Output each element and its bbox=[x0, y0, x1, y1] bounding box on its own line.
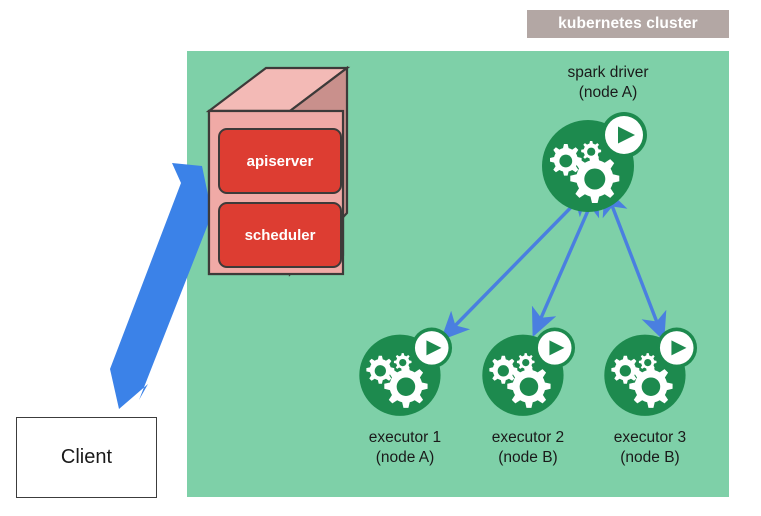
spark-driver-label: spark driver (node A) bbox=[508, 63, 708, 103]
apiserver-label: apiserver bbox=[247, 153, 314, 170]
client-box[interactable]: Client bbox=[16, 417, 157, 498]
executor-2-icon[interactable] bbox=[477, 324, 583, 430]
scheduler-box[interactable]: scheduler bbox=[218, 202, 342, 268]
control-plane-cube[interactable]: apiserver scheduler bbox=[200, 63, 380, 283]
scheduler-label: scheduler bbox=[245, 227, 316, 244]
diagram-canvas: kubernetes cluster Client spark-submit a… bbox=[0, 0, 761, 516]
spark-submit-label: spark-submit bbox=[114, 196, 177, 312]
executor-3-label-line1: executor 3 bbox=[575, 428, 725, 448]
spark-driver-label-line2: (node A) bbox=[508, 83, 708, 103]
gears-play-icon bbox=[542, 112, 647, 212]
client-label: Client bbox=[61, 446, 112, 469]
executor-3-icon[interactable] bbox=[599, 324, 705, 430]
executor-3-label: executor 3 (node B) bbox=[575, 428, 725, 468]
executor-3-label-line2: (node B) bbox=[575, 448, 725, 468]
kubernetes-cluster-badge: kubernetes cluster bbox=[527, 10, 729, 38]
gears-play-icon bbox=[482, 328, 575, 416]
control-plane-components: apiserver scheduler bbox=[218, 128, 342, 268]
executor-1-icon[interactable] bbox=[354, 324, 460, 430]
gears-play-icon bbox=[604, 328, 697, 416]
spark-driver-label-line1: spark driver bbox=[508, 63, 708, 83]
apiserver-box[interactable]: apiserver bbox=[218, 128, 342, 194]
gears-play-icon bbox=[359, 328, 452, 416]
spark-driver-icon[interactable] bbox=[536, 108, 656, 228]
kubernetes-cluster-badge-label: kubernetes cluster bbox=[558, 15, 698, 33]
